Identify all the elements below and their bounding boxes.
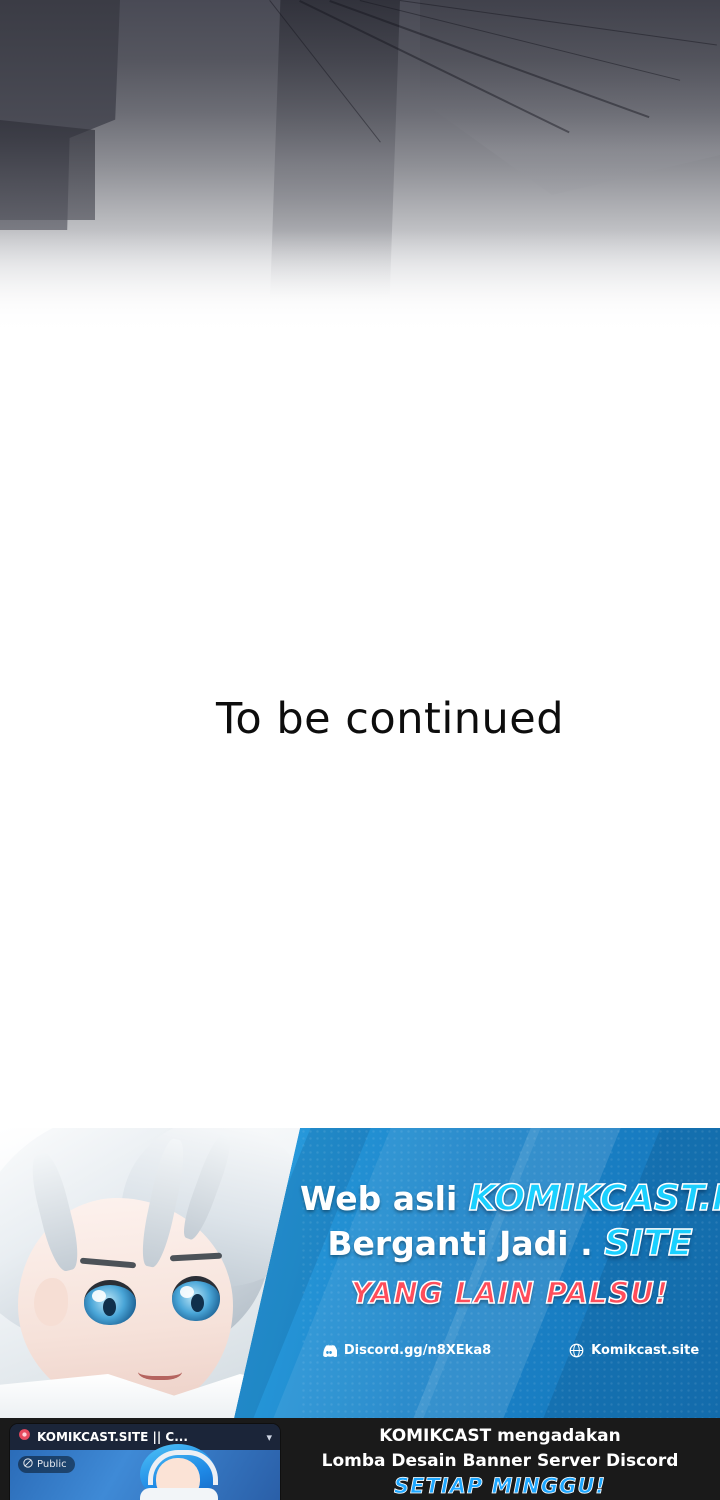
globe-icon [569, 1343, 584, 1358]
announcement-text: KOMIKCAST mengadakan Lomba Desain Banner… [290, 1424, 710, 1499]
comic-panel: To be continued [0, 0, 720, 1128]
banner-website-link-label: Komikcast.site [591, 1343, 699, 1358]
discord-server-icon [18, 1428, 31, 1446]
to-be-continued-caption: To be continued [0, 694, 720, 744]
banner-website-link[interactable]: Komikcast.site [569, 1343, 699, 1358]
banner-text-block: Web asli KOMIKCAST.ME Berganti Jadi . SI… [300, 1128, 720, 1418]
discord-server-widget[interactable]: KOMIKCAST.SITE || C... ▾ Public [10, 1424, 280, 1500]
banner-brand-site: SITE [604, 1223, 692, 1264]
banner-discord-link-label: Discord.gg/n8XEka8 [344, 1343, 491, 1358]
panel-building-left-secondary [0, 120, 95, 220]
banner-line-2-dot: . [580, 1224, 593, 1263]
discord-widget-public-badge: Public [18, 1456, 75, 1473]
banner-line-1: Web asli KOMIKCAST.ME [300, 1178, 720, 1219]
banner-brand-komikcast-me: KOMIKCAST.ME [469, 1178, 720, 1219]
discord-widget-public-label: Public [37, 1459, 67, 1470]
promo-banner[interactable]: Web asli KOMIKCAST.ME Berganti Jadi . SI… [0, 1128, 720, 1418]
announcement-line-2: Lomba Desain Banner Server Discord [290, 1449, 710, 1474]
announcement-line-1: KOMIKCAST mengadakan [290, 1424, 710, 1449]
panel-white-fade [0, 230, 720, 390]
banner-line-2-prefix: Berganti Jadi [327, 1224, 568, 1263]
discord-widget-title: KOMIKCAST.SITE || C... [37, 1430, 260, 1444]
globe-small-icon [23, 1458, 33, 1471]
banner-line-1-prefix: Web asli [300, 1179, 457, 1218]
banner-line-3-warning: YANG LAIN PALSU! [300, 1276, 720, 1310]
banner-links: Discord.gg/n8XEka8 Komikcast.site [300, 1343, 720, 1358]
banner-line-2: Berganti Jadi . SITE [300, 1223, 720, 1264]
discord-icon [321, 1344, 337, 1357]
discord-widget-character [130, 1444, 226, 1500]
announcement-line-3: SETIAP MINGGU! [290, 1474, 710, 1499]
banner-discord-link[interactable]: Discord.gg/n8XEka8 [321, 1343, 491, 1358]
chevron-down-icon[interactable]: ▾ [266, 1431, 272, 1444]
